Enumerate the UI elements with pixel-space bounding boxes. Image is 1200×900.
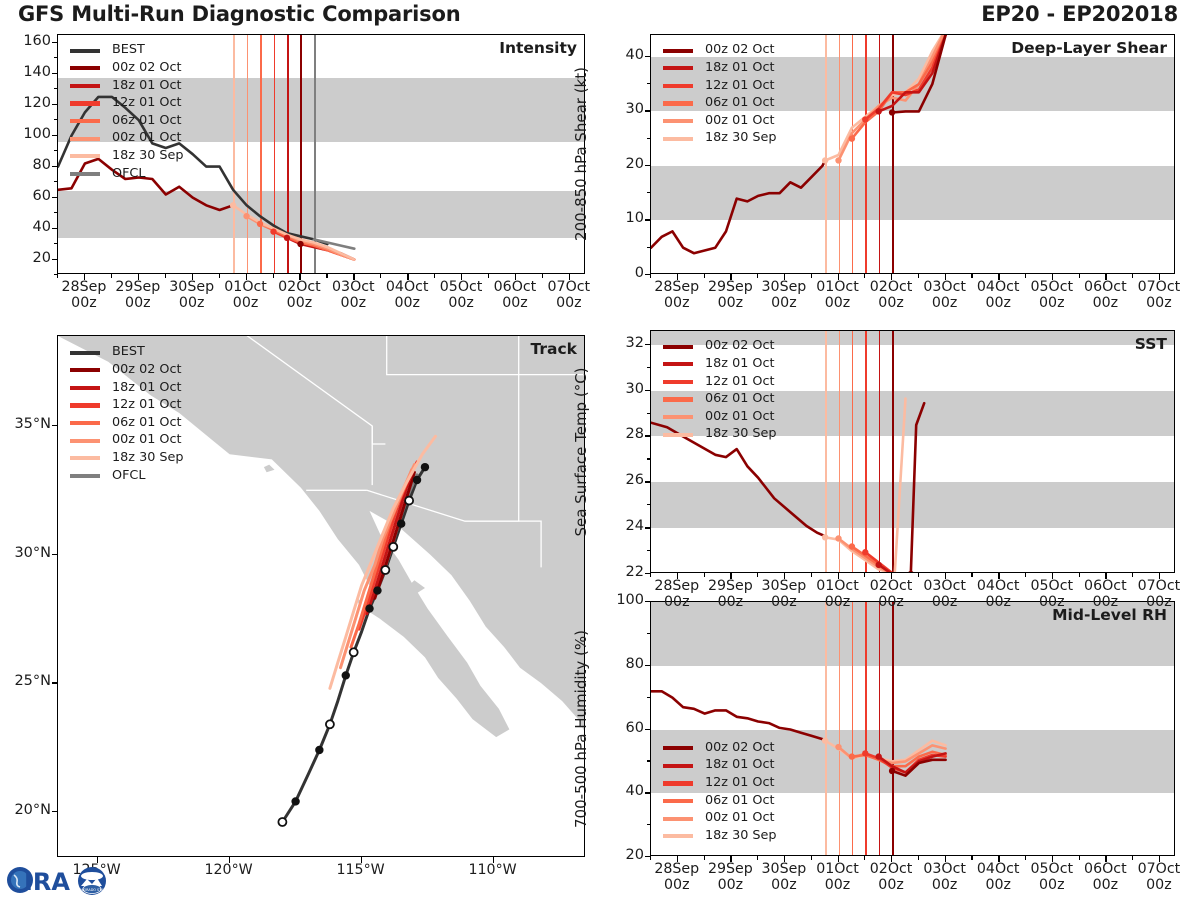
y-minor-tick — [647, 527, 651, 528]
y-tick-label: 120 — [7, 95, 51, 111]
y-minor-tick — [647, 165, 651, 166]
y-tick-label: 20 — [600, 156, 644, 172]
x-tick-hour: 00z — [341, 295, 367, 311]
x-minor-tick — [111, 274, 112, 278]
panel-title-intensity: Intensity — [499, 39, 577, 57]
y-minor-tick — [54, 228, 58, 229]
x-tick-hour: 00z — [556, 295, 582, 311]
y-minor-tick — [647, 192, 651, 193]
x-minor-tick — [838, 274, 839, 278]
legend-item: 00z 02 Oct — [663, 739, 777, 757]
x-tick-hour: 00z — [233, 295, 259, 311]
x-minor-tick — [971, 274, 972, 278]
legend-item: 18z 30 Sep — [663, 130, 777, 148]
x-tick-hour: 00z — [287, 295, 313, 311]
legend-swatch — [663, 49, 693, 53]
x-tick-hour: 00z — [718, 877, 744, 893]
init-point-marker — [862, 549, 868, 555]
init-point-marker — [835, 744, 841, 750]
legend-item: 12z 01 Oct — [70, 397, 184, 415]
y-minor-tick — [647, 792, 651, 793]
y-minor-tick — [647, 413, 651, 414]
x-tick-hour: 00z — [1146, 295, 1172, 311]
x-minor-tick — [1052, 573, 1053, 577]
x-minor-tick — [704, 856, 705, 860]
lat-tick-label: 20°N — [0, 802, 51, 818]
x-minor-tick — [971, 573, 972, 577]
legend-item: 00z 01 Oct — [663, 112, 777, 130]
y-axis-label-sst: Sea Surface Temp (°C) — [572, 367, 590, 536]
x-tick-hour: 00z — [394, 295, 420, 311]
init-point-marker — [849, 753, 855, 759]
legend-label: OFCL — [112, 168, 146, 181]
legend-item: 00z 01 Oct — [70, 432, 184, 450]
y-tick-label: 40 — [7, 219, 51, 235]
x-minor-tick — [1132, 856, 1133, 860]
x-minor-tick — [784, 274, 785, 278]
y-minor-tick — [647, 729, 651, 730]
y-minor-tick — [54, 135, 58, 136]
y-axis-label-rh: 700-500 hPa Humidity (%) — [572, 629, 590, 827]
x-tick-hour: 00z — [1039, 877, 1065, 893]
lat-tick-mark — [52, 425, 57, 426]
legend-label: 12z 01 Oct — [705, 777, 775, 790]
lat-tick-label: 30°N — [0, 545, 51, 561]
legend-label: 00z 01 Oct — [112, 434, 182, 447]
x-tick-hour: 00z — [878, 877, 904, 893]
x-tick-hour: 00z — [1039, 295, 1065, 311]
y-tick-label: 30 — [600, 101, 644, 117]
legend-item: 18z 01 Oct — [70, 77, 184, 95]
legend-item: OFCL — [70, 467, 184, 485]
init-point-marker — [257, 221, 263, 227]
init-point-marker — [284, 235, 290, 241]
x-minor-tick — [1025, 856, 1026, 860]
legend-swatch — [70, 456, 100, 460]
y-minor-tick — [54, 73, 58, 74]
y-minor-tick — [54, 243, 58, 244]
y-minor-tick — [647, 550, 651, 551]
track-marker-open — [389, 543, 397, 551]
x-minor-tick — [165, 274, 166, 278]
x-minor-tick — [299, 274, 300, 278]
y-minor-tick — [54, 119, 58, 120]
lon-tick-mark — [229, 857, 230, 863]
legend-swatch — [663, 119, 693, 123]
panel-intensity: IntensityBEST00z 02 Oct18z 01 Oct12z 01 … — [57, 34, 585, 274]
x-minor-tick — [945, 274, 946, 278]
y-tick-label: 20 — [600, 847, 644, 863]
legend-swatch — [70, 119, 100, 123]
x-tick-hour: 00z — [985, 295, 1011, 311]
legend-swatch — [663, 817, 693, 821]
svg-text:COLORADO STATE: COLORADO STATE — [77, 888, 108, 892]
y-minor-tick — [647, 367, 651, 368]
x-tick-date: 07Oct — [1138, 578, 1181, 594]
legend-intensity: BEST00z 02 Oct18z 01 Oct12z 01 Oct06z 01… — [70, 42, 184, 183]
legend-track: BEST00z 02 Oct18z 01 Oct12z 01 Oct06z 01… — [70, 344, 184, 485]
x-minor-tick — [998, 856, 999, 860]
y-tick-label: 40 — [600, 783, 644, 799]
legend-item: 06z 01 Oct — [663, 391, 777, 409]
y-minor-tick — [647, 390, 651, 391]
x-minor-tick — [219, 274, 220, 278]
legend-label: 12z 01 Oct — [112, 399, 182, 412]
panel-title-rh: Mid-Level RH — [1052, 606, 1167, 624]
legend-label: 00z 01 Oct — [705, 812, 775, 825]
legend-label: 00z 01 Oct — [112, 132, 182, 145]
legend-swatch — [70, 172, 100, 176]
init-point-marker — [849, 135, 855, 141]
x-minor-tick — [1079, 573, 1080, 577]
legend-swatch — [663, 137, 693, 141]
x-tick-hour: 00z — [71, 295, 97, 311]
series-line — [233, 205, 354, 259]
init-point-marker — [875, 562, 881, 568]
legend-item: 00z 01 Oct — [663, 408, 777, 426]
panel-title-shear: Deep-Layer Shear — [1011, 39, 1167, 57]
x-tick-hour: 00z — [771, 295, 797, 311]
panel-rh: Mid-Level RH00z 02 Oct18z 01 Oct12z 01 O… — [650, 601, 1175, 856]
init-point-marker — [889, 768, 895, 774]
legend-label: 18z 30 Sep — [705, 132, 777, 145]
y-tick-label: 80 — [600, 656, 644, 672]
x-tick-date: 07Oct — [1138, 861, 1181, 877]
x-tick-hour: 00z — [1146, 877, 1172, 893]
series-line — [825, 35, 946, 161]
x-tick-hour: 00z — [718, 594, 744, 610]
y-axis-label-shear: 200-850 hPa Shear (kt) — [572, 67, 590, 241]
init-point-marker — [875, 753, 881, 759]
x-minor-tick — [1159, 274, 1160, 278]
x-tick-label: 07Oct00z — [1119, 862, 1199, 894]
x-tick-hour: 00z — [1093, 877, 1119, 893]
legend-swatch — [70, 101, 100, 105]
x-tick-hour: 00z — [771, 877, 797, 893]
x-minor-tick — [811, 856, 812, 860]
x-minor-tick — [461, 274, 462, 278]
legend-item: 00z 02 Oct — [70, 60, 184, 78]
legend-swatch — [70, 351, 100, 355]
legend-label: 00z 01 Oct — [705, 115, 775, 128]
legend-label: 18z 01 Oct — [705, 358, 775, 371]
init-point-marker — [889, 109, 895, 115]
legend-rh: 00z 02 Oct18z 01 Oct12z 01 Oct06z 01 Oct… — [663, 739, 777, 845]
legend-item: 18z 30 Sep — [70, 450, 184, 468]
x-tick-hour: 00z — [932, 295, 958, 311]
x-minor-tick — [1079, 856, 1080, 860]
legend-label: BEST — [112, 44, 145, 57]
x-minor-tick — [784, 573, 785, 577]
x-minor-tick — [1132, 573, 1133, 577]
init-point-marker — [822, 534, 828, 540]
x-tick-hour: 00z — [985, 877, 1011, 893]
legend-swatch — [663, 362, 693, 366]
y-tick-label: 28 — [600, 426, 644, 442]
x-minor-tick — [84, 274, 85, 278]
track-marker-filled — [291, 797, 299, 805]
legend-swatch — [663, 345, 693, 349]
cira-logo: IRA COLORADO STATE — [4, 862, 112, 898]
track-marker-filled — [342, 671, 350, 679]
lat-tick-mark — [52, 811, 57, 812]
legend-swatch — [70, 154, 100, 158]
x-minor-tick — [1105, 856, 1106, 860]
x-minor-tick — [353, 274, 354, 278]
panel-track: TrackBEST00z 02 Oct18z 01 Oct12z 01 Oct0… — [57, 335, 585, 857]
legend-label: 06z 01 Oct — [705, 795, 775, 808]
init-point-marker — [230, 202, 236, 208]
init-point-marker — [908, 571, 914, 572]
x-minor-tick — [542, 274, 543, 278]
y-minor-tick — [647, 219, 651, 220]
panel-title-sst: SST — [1135, 335, 1167, 353]
x-minor-tick — [650, 573, 651, 577]
legend-swatch — [70, 439, 100, 443]
y-tick-label: 20 — [7, 250, 51, 266]
x-minor-tick — [380, 274, 381, 278]
x-minor-tick — [677, 274, 678, 278]
x-minor-tick — [1105, 274, 1106, 278]
y-minor-tick — [54, 259, 58, 260]
x-minor-tick — [864, 274, 865, 278]
track-marker-filled — [373, 586, 381, 594]
y-minor-tick — [647, 247, 651, 248]
init-point-marker — [243, 213, 249, 219]
track-marker-filled — [397, 520, 405, 528]
legend-item: 06z 01 Oct — [663, 792, 777, 810]
y-minor-tick — [54, 42, 58, 43]
y-minor-tick — [647, 110, 651, 111]
track-marker-open — [350, 648, 358, 656]
y-minor-tick — [54, 57, 58, 58]
x-tick-hour: 00z — [932, 877, 958, 893]
init-point-marker — [822, 157, 828, 163]
x-minor-tick — [971, 856, 972, 860]
x-tick-hour: 00z — [985, 594, 1011, 610]
legend-swatch — [663, 764, 693, 768]
init-point-marker — [270, 228, 276, 234]
init-point-marker — [835, 157, 841, 163]
legend-label: 00z 02 Oct — [705, 44, 775, 57]
x-minor-tick — [192, 274, 193, 278]
x-minor-tick — [998, 274, 999, 278]
x-minor-tick — [273, 274, 274, 278]
y-minor-tick — [647, 458, 651, 459]
track-marker-filled — [413, 476, 421, 484]
svg-text:IRA: IRA — [24, 868, 70, 896]
legend-label: 18z 30 Sep — [112, 150, 184, 163]
legend-item: 18z 01 Oct — [70, 379, 184, 397]
track-marker-filled — [315, 746, 323, 754]
track-marker-open — [326, 720, 334, 728]
x-minor-tick — [326, 274, 327, 278]
legend-swatch — [70, 403, 100, 407]
y-minor-tick — [54, 166, 58, 167]
y-tick-label: 60 — [7, 188, 51, 204]
legend-item: 12z 01 Oct — [663, 373, 777, 391]
x-minor-tick — [677, 573, 678, 577]
legend-label: 06z 01 Oct — [112, 115, 182, 128]
y-minor-tick — [647, 481, 651, 482]
legend-swatch — [70, 66, 100, 70]
lon-tick-label: 120°W — [189, 863, 269, 879]
x-tick-hour: 00z — [878, 295, 904, 311]
legend-label: 12z 01 Oct — [112, 97, 182, 110]
series-line — [839, 35, 946, 161]
legend-label: 18z 01 Oct — [705, 759, 775, 772]
x-minor-tick — [730, 274, 731, 278]
legend-item: 12z 01 Oct — [70, 95, 184, 113]
y-tick-label: 10 — [600, 210, 644, 226]
y-minor-tick — [647, 633, 651, 634]
legend-label: 12z 01 Oct — [705, 376, 775, 389]
panel-sst: SST00z 02 Oct18z 01 Oct12z 01 Oct06z 01 … — [650, 330, 1175, 573]
init-point-marker — [862, 750, 868, 756]
y-minor-tick — [54, 88, 58, 89]
track-marker-filled — [421, 463, 429, 471]
x-minor-tick — [918, 856, 919, 860]
x-minor-tick — [811, 573, 812, 577]
track-marker-open — [405, 497, 413, 505]
init-point-marker — [835, 535, 841, 541]
lon-tick-mark — [493, 857, 494, 863]
legend-label: 00z 02 Oct — [112, 62, 182, 75]
x-minor-tick — [1025, 274, 1026, 278]
legend-item: 00z 01 Oct — [663, 810, 777, 828]
legend-swatch — [70, 474, 100, 478]
legend-swatch — [663, 101, 693, 105]
x-minor-tick — [918, 274, 919, 278]
x-tick-hour: 00z — [664, 295, 690, 311]
legend-item: 06z 01 Oct — [663, 95, 777, 113]
legend-sst: 00z 02 Oct18z 01 Oct12z 01 Oct06z 01 Oct… — [663, 338, 777, 444]
x-minor-tick — [407, 274, 408, 278]
x-minor-tick — [864, 573, 865, 577]
x-minor-tick — [1105, 573, 1106, 577]
x-minor-tick — [650, 856, 651, 860]
x-minor-tick — [1052, 274, 1053, 278]
x-minor-tick — [57, 274, 58, 278]
x-minor-tick — [757, 573, 758, 577]
y-tick-label: 40 — [600, 47, 644, 63]
x-minor-tick — [704, 573, 705, 577]
legend-item: 06z 01 Oct — [70, 112, 184, 130]
x-minor-tick — [1132, 274, 1133, 278]
y-tick-label: 32 — [600, 335, 644, 351]
y-tick-label: 100 — [7, 126, 51, 142]
legend-item: 00z 01 Oct — [70, 130, 184, 148]
legend-swatch — [663, 66, 693, 70]
x-minor-tick — [704, 274, 705, 278]
legend-label: 06z 01 Oct — [112, 417, 182, 430]
x-minor-tick — [838, 856, 839, 860]
x-minor-tick — [891, 856, 892, 860]
legend-item: 00z 02 Oct — [70, 362, 184, 380]
y-minor-tick — [647, 665, 651, 666]
y-minor-tick — [54, 212, 58, 213]
legend-label: 18z 01 Oct — [705, 62, 775, 75]
x-minor-tick — [757, 856, 758, 860]
legend-shear: 00z 02 Oct18z 01 Oct12z 01 Oct06z 01 Oct… — [663, 42, 777, 148]
legend-label: 12z 01 Oct — [705, 80, 775, 93]
y-minor-tick — [54, 150, 58, 151]
x-minor-tick — [1052, 856, 1053, 860]
lat-tick-label: 25°N — [0, 673, 51, 689]
y-minor-tick — [54, 104, 58, 105]
legend-swatch — [663, 397, 693, 401]
x-tick-hour: 00z — [825, 295, 851, 311]
x-tick-hour: 00z — [1093, 295, 1119, 311]
y-minor-tick — [647, 697, 651, 698]
legend-label: 18z 01 Oct — [112, 382, 182, 395]
series-line — [825, 399, 905, 572]
legend-item: 18z 01 Oct — [663, 60, 777, 78]
lat-tick-mark — [52, 554, 57, 555]
x-minor-tick — [757, 274, 758, 278]
x-minor-tick — [515, 274, 516, 278]
legend-label: OFCL — [112, 470, 146, 483]
legend-label: 18z 30 Sep — [705, 428, 777, 441]
track-marker-filled — [365, 604, 373, 612]
x-minor-tick — [730, 573, 731, 577]
x-minor-tick — [998, 573, 999, 577]
x-tick-hour: 00z — [502, 295, 528, 311]
legend-swatch — [663, 415, 693, 419]
y-minor-tick — [647, 138, 651, 139]
x-tick-hour: 00z — [179, 295, 205, 311]
panel-title-track: Track — [531, 340, 577, 358]
legend-swatch — [70, 368, 100, 372]
y-tick-label: 0 — [600, 265, 644, 281]
legend-label: 06z 01 Oct — [705, 393, 775, 406]
x-minor-tick — [1159, 573, 1160, 577]
init-point-marker — [849, 543, 855, 549]
legend-label: 00z 01 Oct — [705, 411, 775, 424]
lon-tick-label: 110°W — [453, 863, 533, 879]
legend-item: 18z 01 Oct — [663, 757, 777, 775]
x-minor-tick — [864, 856, 865, 860]
lat-tick-mark — [52, 682, 57, 683]
legend-swatch — [70, 49, 100, 53]
init-point-marker — [822, 737, 828, 743]
legend-item: 18z 30 Sep — [663, 827, 777, 845]
y-minor-tick — [54, 197, 58, 198]
x-minor-tick — [945, 856, 946, 860]
track-marker-open — [278, 818, 286, 826]
y-minor-tick — [647, 760, 651, 761]
legend-item: 18z 01 Oct — [663, 356, 777, 374]
x-minor-tick — [677, 856, 678, 860]
x-minor-tick — [891, 573, 892, 577]
init-point-marker — [862, 116, 868, 122]
legend-swatch — [663, 380, 693, 384]
lon-tick-label: 115°W — [321, 863, 401, 879]
page-title: GFS Multi-Run Diagnostic Comparison — [18, 2, 460, 26]
init-point-marker — [297, 241, 303, 247]
x-tick-date: 07Oct — [1138, 279, 1181, 295]
x-minor-tick — [246, 274, 247, 278]
track-marker-open — [381, 566, 389, 574]
y-minor-tick — [647, 83, 651, 84]
legend-swatch — [663, 799, 693, 803]
legend-label: BEST — [112, 346, 145, 359]
legend-swatch — [663, 781, 693, 785]
legend-item: 00z 02 Oct — [663, 338, 777, 356]
y-tick-label: 26 — [600, 472, 644, 488]
x-tick-hour: 00z — [718, 295, 744, 311]
legend-item: 12z 01 Oct — [663, 77, 777, 95]
